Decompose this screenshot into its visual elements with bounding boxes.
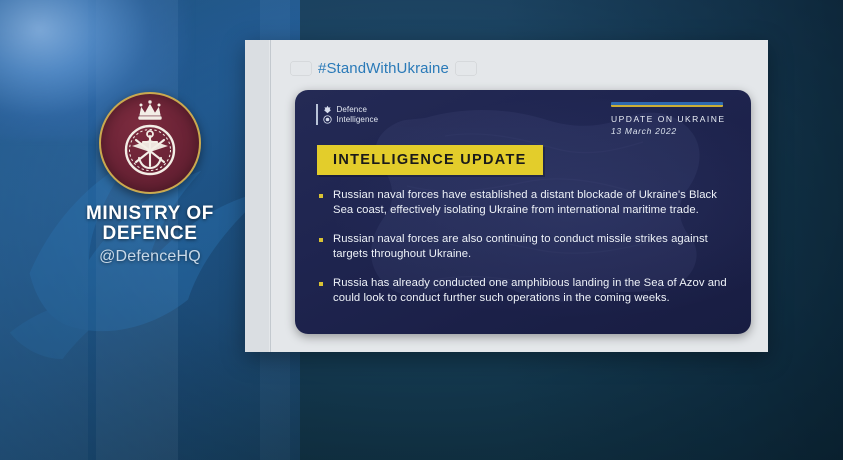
bullet-marker-icon (319, 282, 323, 286)
logo-line1: Defence (337, 105, 379, 115)
org-name: MINISTRY OF DEFENCE (55, 204, 245, 244)
ukraine-colour-bar-icon (611, 102, 723, 107)
bullet-text: Russian naval forces have established a … (333, 188, 731, 218)
screenshot-root: MINISTRY OF DEFENCE @DefenceHQ #StandWit… (0, 0, 843, 460)
list-item: Russia has already conducted one amphibi… (319, 276, 731, 306)
logo-line2: Intelligence (337, 115, 379, 125)
update-date: 13 March 2022 (611, 126, 731, 136)
bullet-text: Russia has already conducted one amphibi… (333, 276, 731, 306)
list-item: Russian naval forces are also continuing… (319, 232, 731, 262)
ukraine-flag-icon (291, 62, 311, 75)
list-item: Russian naval forces have established a … (319, 188, 731, 218)
mod-branding-block: MINISTRY OF DEFENCE @DefenceHQ (55, 92, 245, 266)
update-title: UPDATE ON UKRAINE (611, 114, 731, 124)
defence-intelligence-crest-icon (323, 105, 332, 124)
bullet-list: Russian naval forces have established a … (319, 188, 731, 320)
logo-rule (316, 104, 318, 125)
tweet-panel-divider (270, 40, 271, 352)
org-name-line1: MINISTRY OF (55, 204, 245, 224)
social-handle: @DefenceHQ (55, 248, 245, 266)
intelligence-update-banner: INTELLIGENCE UPDATE (317, 145, 543, 175)
mod-crest-icon (99, 92, 201, 194)
defence-intelligence-label: Defence Intelligence (337, 105, 379, 124)
defence-intelligence-logo: Defence Intelligence (316, 104, 378, 125)
bullet-marker-icon (319, 194, 323, 198)
org-name-line2: DEFENCE (55, 224, 245, 244)
tweet-panel: #StandWithUkraine (245, 40, 768, 352)
update-meta: UPDATE ON UKRAINE 13 March 2022 (611, 102, 731, 136)
bullet-text: Russian naval forces are also continuing… (333, 232, 731, 262)
tweet-panel-left-gutter (245, 40, 269, 352)
banner-label: INTELLIGENCE UPDATE (333, 152, 527, 168)
bullet-marker-icon (319, 238, 323, 242)
hashtag-link[interactable]: #StandWithUkraine (318, 60, 449, 77)
ukraine-flag-icon (456, 62, 476, 75)
hashtag-row: #StandWithUkraine (291, 60, 476, 77)
intelligence-update-card: Defence Intelligence UPDATE ON UKRAINE 1… (295, 90, 751, 334)
